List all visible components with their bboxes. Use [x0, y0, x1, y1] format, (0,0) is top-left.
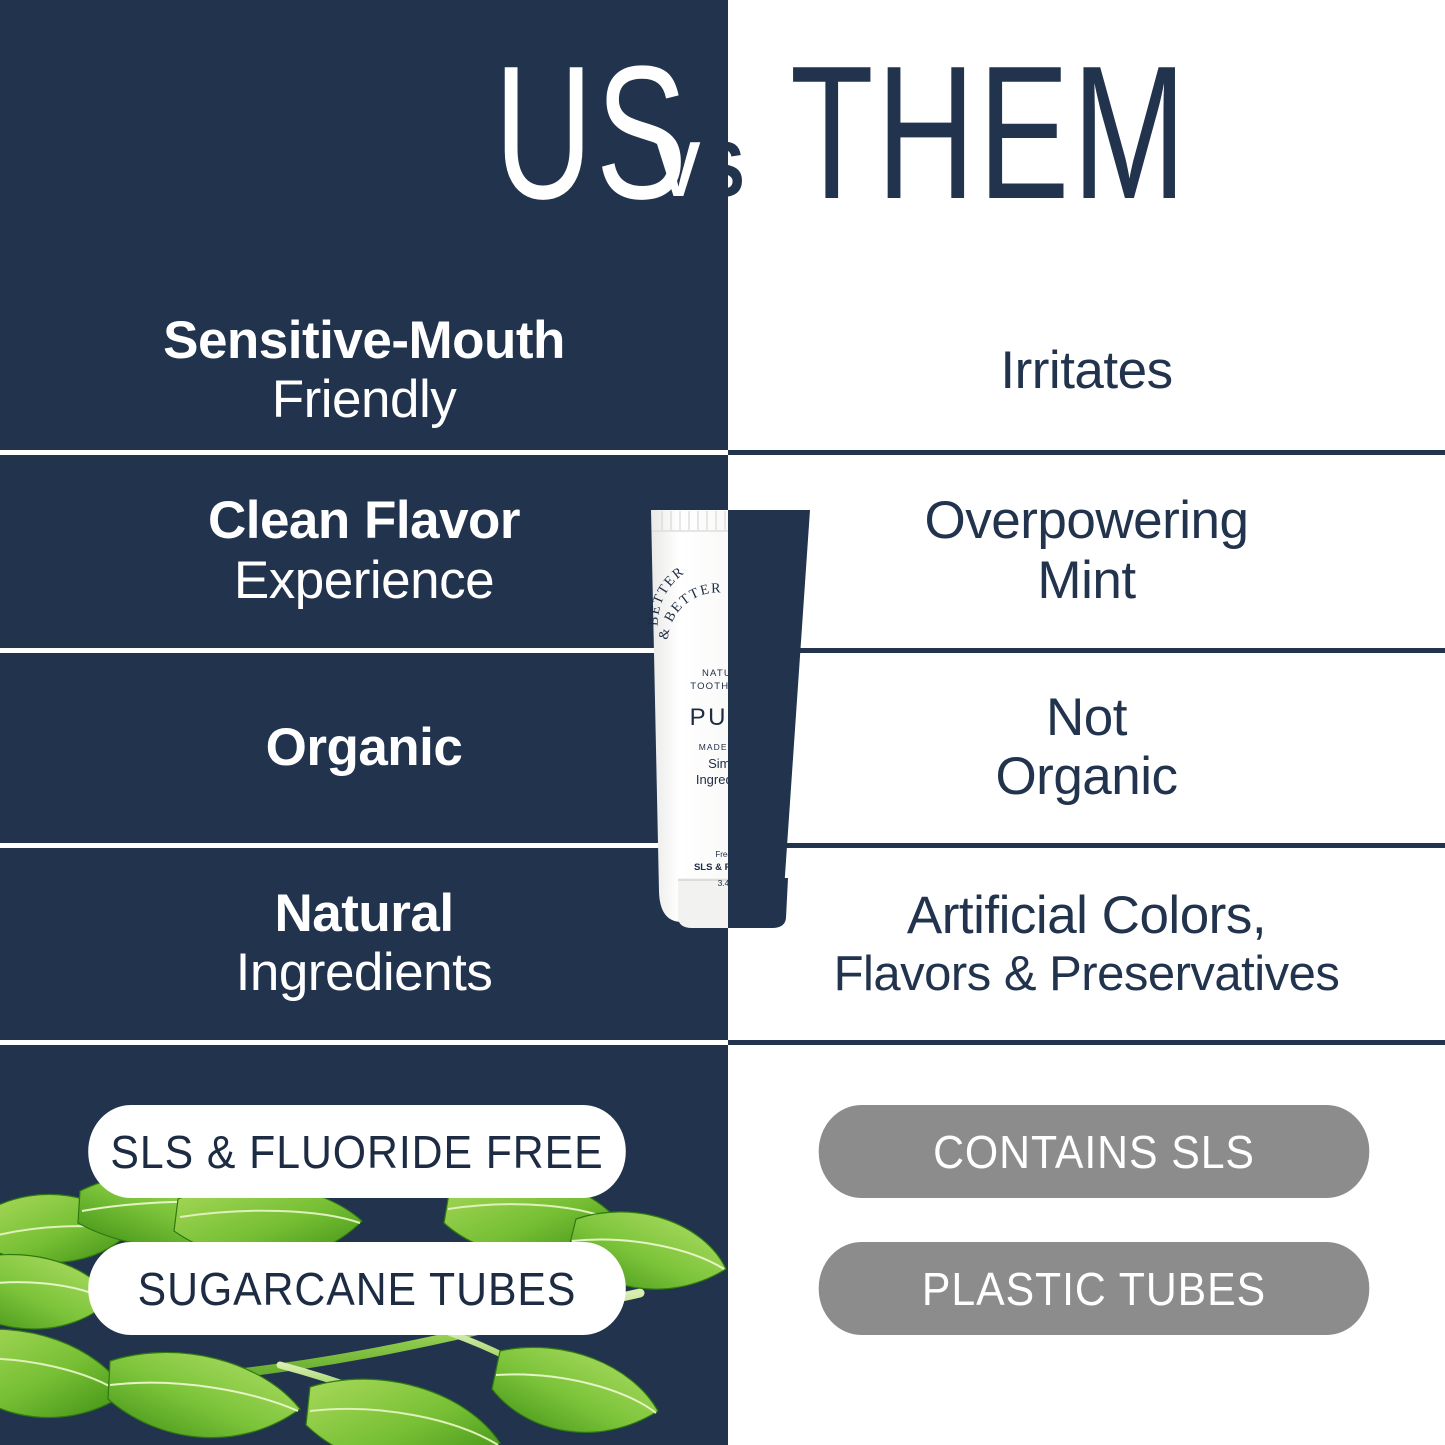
us-badge-2-label: SUGARCANE TUBES [138, 1262, 577, 1316]
row-3-us-cell: Organic [0, 653, 728, 843]
row-3-them-cell: Not Organic [728, 653, 1445, 843]
us-badge-1-label: SLS & FLUORIDE FREE [110, 1125, 603, 1179]
them-badge-2-label: PLASTIC TUBES [922, 1262, 1266, 1316]
row-2-us-line2: Experience [234, 551, 494, 612]
row-4-us-line1: Natural [274, 884, 453, 943]
us-badges-section: SLS & FLUORIDE FREE SUGARCANE TUBES [0, 1045, 728, 1445]
them-badge-2[interactable]: PLASTIC TUBES [819, 1242, 1370, 1335]
row-4-them-line2: Flavors & Preservatives [834, 946, 1340, 1002]
them-badge-1[interactable]: CONTAINS SLS [819, 1105, 1370, 1198]
them-badge-1-label: CONTAINS SLS [933, 1125, 1255, 1179]
header-us-title: US [193, 38, 690, 228]
row-4-them-line1: Artificial Colors, [907, 886, 1266, 945]
row-2-us-cell: Clean Flavor Experience [0, 455, 728, 648]
row-2-them-line1: Overpowering [925, 491, 1249, 550]
row-1-us-line2: Friendly [272, 370, 457, 431]
row-3-them-line2: Organic [995, 747, 1177, 808]
row-1-them-cell: Irritates [728, 290, 1445, 452]
header-them-title: THEM [790, 38, 1265, 228]
comparison-infographic: US VS THEM Sensitive-Mouth Friendly Irri… [0, 0, 1445, 1445]
them-badges-section: CONTAINS SLS PLASTIC TUBES [728, 1045, 1445, 1445]
row-3-us-line1: Organic [266, 718, 463, 777]
row-2-them-line2: Mint [1037, 551, 1135, 612]
row-2-them-cell: Overpowering Mint [728, 455, 1445, 648]
vs-letter-v: V [656, 125, 700, 213]
us-badge-2[interactable]: SUGARCANE TUBES [88, 1242, 626, 1335]
header: US VS THEM [0, 0, 1445, 290]
row-2-us-line1: Clean Flavor [208, 491, 520, 550]
header-vs-label: VS [656, 130, 744, 208]
row-3-them-line1: Not [1046, 688, 1127, 747]
comparison-row-1: Sensitive-Mouth Friendly Irritates [0, 290, 1445, 452]
row-4-us-line2: Ingredients [236, 943, 493, 1004]
row-1-them-line1: Irritates [1000, 341, 1172, 400]
product-tube-image: BETTER & BETTER NATURAL TOOTHPASTE PURE … [638, 500, 828, 940]
row-4-them-cell: Artificial Colors, Flavors & Preservativ… [728, 848, 1445, 1040]
vs-letter-s: S [700, 125, 744, 213]
row-4-us-cell: Natural Ingredients [0, 848, 728, 1040]
row-1-us-line1: Sensitive-Mouth [163, 311, 565, 370]
us-badge-1[interactable]: SLS & FLUORIDE FREE [88, 1105, 626, 1198]
row-1-us-cell: Sensitive-Mouth Friendly [0, 290, 728, 452]
